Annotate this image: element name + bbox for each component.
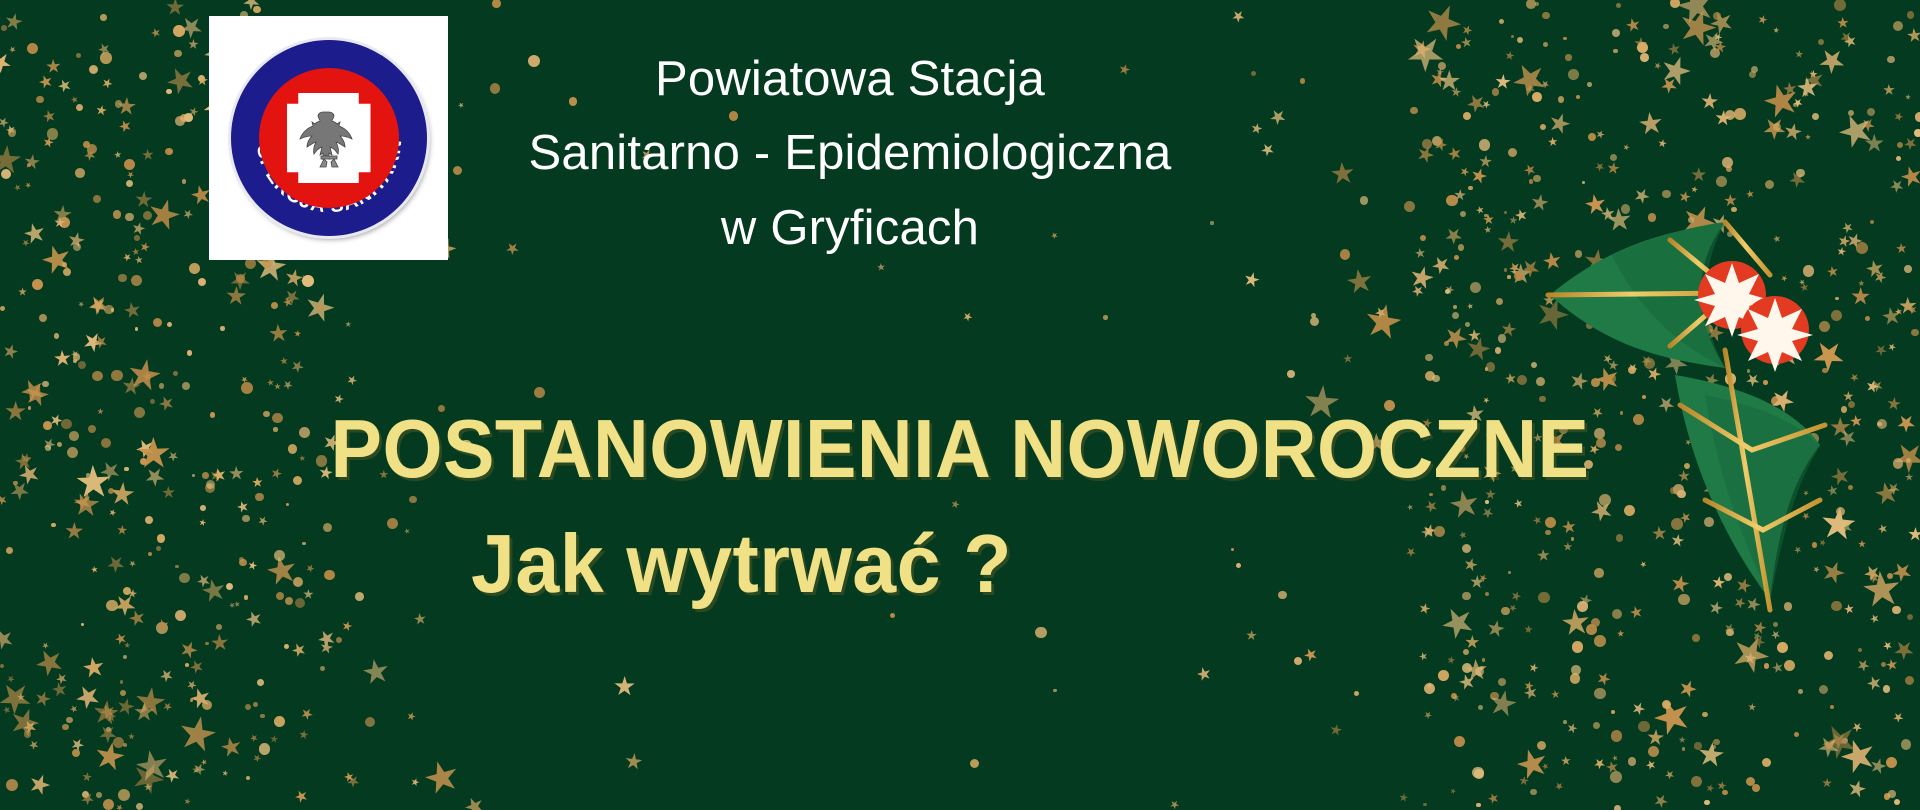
confetti-star: [624, 752, 643, 771]
confetti-star: [1834, 732, 1883, 781]
confetti-dot: [1496, 298, 1503, 305]
confetti-star: [70, 348, 81, 359]
confetti-dot: [1670, 0, 1680, 8]
confetti-star: [1836, 15, 1851, 30]
confetti-star: [26, 771, 53, 798]
confetti-star: [188, 39, 199, 50]
confetti-dot: [1504, 268, 1508, 272]
confetti-dot: [1794, 732, 1799, 737]
confetti-dot: [1410, 107, 1417, 114]
confetti-star: [5, 673, 16, 684]
confetti-dot: [1713, 739, 1720, 746]
confetti-dot: [1540, 124, 1547, 131]
confetti-dot: [0, 306, 5, 311]
confetti-dot: [1432, 375, 1440, 383]
confetti-star: [1, 705, 12, 716]
confetti-star: [1887, 176, 1907, 196]
confetti-dot: [1474, 769, 1484, 779]
confetti-dot: [1360, 196, 1368, 204]
confetti-star: [457, 100, 466, 109]
confetti-star: [36, 239, 77, 280]
confetti-star: [121, 252, 133, 264]
confetti-star: [1758, 112, 1790, 144]
confetti-dot: [6, 779, 18, 791]
confetti-star: [176, 713, 219, 756]
confetti-star: [1804, 133, 1812, 141]
confetti-dot: [1587, 82, 1592, 87]
confetti-dot: [216, 624, 222, 630]
confetti-dot: [24, 730, 32, 738]
confetti-star: [1624, 16, 1644, 36]
confetti-star: [13, 182, 23, 192]
confetti-star: [289, 357, 306, 374]
confetti-star: [1658, 74, 1681, 97]
confetti-star: [20, 717, 40, 737]
confetti-dot: [1103, 315, 1108, 320]
confetti-star: [270, 734, 279, 743]
confetti-star: [1436, 67, 1445, 76]
confetti-dot: [1611, 730, 1622, 741]
confetti-dot: [62, 262, 67, 267]
confetti-star: [319, 640, 334, 655]
confetti-star: [1410, 38, 1433, 61]
confetti-dot: [1638, 721, 1650, 733]
confetti-star: [1554, 780, 1566, 792]
confetti-star: [1462, 656, 1492, 686]
confetti-star: [226, 266, 254, 294]
confetti-dot: [1438, 62, 1446, 70]
confetti-dot: [73, 353, 80, 360]
confetti-star: [42, 136, 55, 149]
confetti-star: [153, 617, 171, 635]
confetti-star: [1868, 756, 1888, 776]
confetti-dot: [175, 610, 186, 621]
confetti-dot: [1508, 148, 1517, 157]
confetti-dot: [123, 655, 127, 659]
confetti-star: [1523, 680, 1535, 692]
confetti-star: [79, 653, 108, 682]
confetti-dot: [1287, 370, 1295, 378]
confetti-star: [40, 108, 58, 126]
confetti-star: [196, 74, 208, 86]
confetti-star: [1445, 144, 1464, 163]
confetti-dot: [1511, 35, 1514, 38]
confetti-star: [128, 733, 135, 740]
confetti-star: [121, 299, 144, 322]
confetti-star: [1675, 5, 1722, 52]
confetti-dot: [253, 702, 258, 707]
confetti-dot: [150, 399, 156, 405]
confetti-star: [358, 654, 393, 689]
confetti-star: [239, 374, 249, 384]
confetti-dot: [1614, 805, 1622, 810]
confetti-star: [30, 644, 69, 683]
confetti-dot: [1472, 767, 1483, 778]
confetti-star: [282, 295, 296, 309]
confetti-star: [1343, 264, 1377, 298]
confetti-star: [144, 195, 183, 234]
confetti-dot: [1465, 322, 1470, 327]
confetti-dot: [1710, 48, 1721, 59]
confetti-star: [4, 11, 25, 32]
confetti-star: [1414, 246, 1428, 260]
confetti-dot: [180, 114, 188, 122]
confetti-dot: [173, 25, 185, 37]
confetti-star: [1714, 110, 1732, 128]
confetti-star: [96, 721, 121, 746]
logo-blue-ring: PAŃSTWOWA INSPEKCJA SANITARNA: [231, 40, 427, 236]
confetti-dot: [1830, 705, 1834, 709]
confetti-dot: [1716, 176, 1727, 187]
confetti-dot: [1722, 157, 1733, 168]
confetti-dot: [198, 75, 205, 82]
confetti-star: [217, 733, 245, 761]
confetti-dot: [1773, 123, 1781, 131]
confetti-dot: [1848, 110, 1854, 116]
confetti-star: [1541, 761, 1550, 770]
confetti-dot: [198, 278, 206, 286]
confetti-dot: [1824, 651, 1833, 660]
confetti-star: [1450, 86, 1462, 98]
confetti-star: [140, 147, 156, 163]
confetti-star: [342, 770, 356, 784]
confetti-star: [1450, 693, 1461, 704]
confetti-star: [1745, 188, 1756, 199]
confetti-dot: [73, 243, 81, 251]
confetti-dot: [27, 163, 31, 167]
confetti-dot: [1035, 627, 1046, 638]
confetti-star: [1758, 77, 1806, 125]
confetti-star: [0, 675, 38, 720]
confetti-star: [302, 289, 339, 326]
confetti-star: [268, 259, 278, 269]
confetti-star: [289, 640, 309, 660]
confetti-dot: [1610, 154, 1617, 161]
confetti-star: [43, 57, 62, 76]
confetti-dot: [1452, 312, 1459, 319]
confetti-star: [1508, 215, 1518, 225]
confetti-star: [181, 207, 195, 221]
confetti-star: [1521, 684, 1540, 703]
confetti-star: [1670, 0, 1722, 32]
confetti-star: [1647, 691, 1698, 742]
confetti-dot: [103, 799, 114, 810]
confetti-star: [1511, 743, 1554, 786]
confetti-star: [96, 41, 113, 58]
confetti-dot: [120, 690, 126, 696]
confetti-star: [1846, 778, 1868, 800]
confetti-star: [1546, 110, 1573, 137]
confetti-star: [33, 689, 53, 709]
confetti-dot: [1492, 88, 1499, 95]
confetti-dot: [1451, 693, 1457, 699]
confetti-star: [314, 627, 339, 652]
confetti-star: [281, 286, 303, 308]
confetti-dot: [1340, 249, 1350, 259]
confetti-dot: [82, 791, 89, 798]
confetti-star: [461, 793, 488, 810]
confetti-dot: [202, 700, 212, 710]
confetti-dot: [534, 387, 545, 398]
confetti-star: [66, 230, 86, 250]
confetti-dot: [118, 789, 130, 801]
confetti-dot: [1765, 180, 1774, 189]
confetti-star: [1891, 710, 1906, 725]
confetti-star: [1705, 783, 1715, 793]
confetti-dot: [92, 371, 103, 382]
confetti-dot: [1404, 201, 1415, 212]
confetti-star: [1486, 688, 1518, 720]
confetti-star: [1658, 52, 1695, 89]
confetti-dot: [1582, 181, 1585, 184]
confetti-star: [131, 247, 141, 257]
confetti-star: [1837, 28, 1855, 46]
confetti-dot: [1468, 186, 1472, 190]
confetti-dot: [274, 716, 285, 727]
confetti-star: [1814, 731, 1844, 761]
confetti-dot: [1311, 313, 1316, 318]
confetti-star: [1453, 189, 1466, 202]
confetti-star: [1258, 140, 1277, 159]
confetti-dot: [76, 53, 81, 58]
confetti-dot: [1637, 42, 1648, 53]
poster-canvas: PAŃSTWOWA INSPEKCJA SANITARNA P: [0, 0, 1920, 810]
confetti-star: [1441, 224, 1465, 248]
title-line-1: POSTANOWIENIA NOWOROCZNE: [67, 405, 1853, 492]
confetti-dot: [1612, 29, 1620, 37]
confetti-dot: [1883, 685, 1890, 692]
confetti-dot: [185, 663, 189, 667]
confetti-star: [81, 771, 92, 782]
confetti-star: [115, 803, 125, 810]
confetti-dot: [1888, 790, 1895, 797]
confetti-dot: [1563, 720, 1567, 724]
confetti-star: [166, 146, 175, 155]
confetti-star: [1460, 35, 1475, 50]
confetti-star: [294, 330, 302, 338]
org-line-1: Powiatowa Stacja: [470, 42, 1230, 116]
confetti-star: [1865, 134, 1885, 154]
confetti-dot: [1702, 712, 1707, 717]
confetti-star: [143, 782, 153, 792]
confetti-star: [140, 369, 155, 384]
confetti-dot: [1594, 688, 1605, 699]
confetti-dot: [246, 776, 250, 780]
confetti-dot: [173, 371, 178, 376]
confetti-star: [125, 357, 163, 395]
confetti-star: [297, 272, 313, 288]
confetti-dot: [1905, 676, 1914, 685]
confetti-star: [6, 704, 43, 741]
confetti-dot: [1616, 3, 1621, 8]
confetti-star: [1795, 50, 1804, 59]
confetti-dot: [166, 89, 171, 94]
confetti-dot: [1484, 214, 1487, 217]
confetti-star: [1458, 165, 1470, 177]
confetti-dot: [1, 25, 7, 31]
confetti-star: [962, 310, 975, 323]
confetti-star: [1770, 660, 1786, 676]
polish-eagle-icon: [297, 106, 361, 176]
confetti-star: [279, 355, 290, 366]
confetti-dot: [1563, 37, 1566, 40]
confetti-star: [186, 684, 215, 713]
confetti-star: [1438, 70, 1461, 93]
confetti-star: [1409, 282, 1426, 299]
confetti-star: [1230, 7, 1248, 25]
confetti-star: [1713, 32, 1724, 43]
confetti-star: [200, 757, 209, 766]
confetti-dot: [1858, 648, 1862, 652]
confetti-dot: [1572, 641, 1583, 652]
confetti-dot: [1640, 53, 1649, 62]
confetti-dot: [1507, 275, 1511, 279]
confetti-dot: [83, 141, 89, 147]
confetti-star: [0, 115, 10, 129]
confetti-star: [1250, 122, 1264, 136]
confetti-star: [101, 76, 115, 90]
confetti-dot: [1438, 670, 1449, 681]
confetti-star: [68, 703, 79, 714]
confetti-dot: [1819, 685, 1828, 694]
confetti-dot: [1558, 96, 1564, 102]
confetti-dot: [1490, 692, 1499, 701]
confetti-dot: [62, 724, 68, 730]
confetti-dot: [970, 759, 979, 768]
confetti-star: [1679, 736, 1686, 743]
confetti-dot: [120, 680, 124, 684]
confetti-star: [130, 220, 146, 236]
confetti-dot: [100, 52, 111, 63]
confetti-star: [1826, 728, 1850, 752]
confetti-dot: [1568, 69, 1579, 80]
confetti-dot: [1682, 747, 1686, 751]
confetti-star: [1786, 168, 1810, 192]
confetti-star: [41, 641, 51, 651]
confetti-dot: [136, 803, 143, 810]
confetti-star: [185, 678, 198, 691]
confetti-star: [1245, 630, 1257, 642]
confetti-dot: [1294, 657, 1302, 665]
confetti-star: [55, 76, 74, 95]
organization-name: Powiatowa Stacja Sanitarno - Epidemiolog…: [470, 42, 1230, 265]
confetti-star: [7, 45, 17, 55]
confetti-star: [1809, 69, 1818, 78]
confetti-star: [1832, 107, 1880, 155]
confetti-star: [16, 692, 26, 702]
confetti-dot: [73, 359, 77, 363]
confetti-star: [1653, 61, 1663, 71]
confetti-star: [1606, 161, 1620, 175]
confetti-star: [1633, 37, 1647, 51]
confetti-dot: [187, 350, 192, 355]
confetti-dot: [1476, 803, 1481, 808]
confetti-dot: [259, 743, 270, 754]
confetti-dot: [1793, 103, 1797, 107]
confetti-star: [80, 328, 107, 355]
confetti-star: [1630, 699, 1647, 716]
confetti-star: [1676, 677, 1699, 700]
org-line-2: Sanitarno - Epidemiologiczna: [470, 116, 1230, 190]
logo-red-disc: [259, 68, 399, 208]
confetti-star: [1547, 135, 1560, 148]
confetti-dot: [1354, 691, 1359, 696]
confetti-dot: [1842, 738, 1848, 744]
confetti-star: [1400, 27, 1452, 79]
confetti-dot: [260, 714, 264, 718]
confetti-star: [121, 376, 142, 397]
confetti-dot: [1, 169, 11, 179]
confetti-dot: [93, 195, 101, 203]
confetti-star: [1884, 657, 1900, 673]
confetti-star: [1432, 136, 1449, 153]
confetti-dot: [245, 704, 251, 710]
confetti-dot: [1867, 108, 1875, 116]
confetti-dot: [1691, 776, 1702, 787]
confetti-dot: [1444, 341, 1449, 346]
confetti-dot: [159, 383, 165, 389]
confetti-star: [126, 757, 169, 800]
confetti-dot: [1762, 758, 1771, 767]
confetti-star: [1748, 703, 1757, 712]
confetti-star: [267, 321, 292, 346]
confetti-dot: [143, 211, 152, 220]
confetti-dot: [125, 213, 133, 221]
confetti-dot: [1423, 803, 1427, 807]
confetti-star: [266, 378, 276, 388]
confetti-dot: [271, 302, 278, 309]
confetti-star: [1757, 13, 1769, 25]
confetti-star: [1850, 720, 1864, 734]
confetti-dot: [1533, 93, 1541, 101]
confetti-star: [1696, 740, 1725, 769]
confetti-star: [1904, 94, 1911, 101]
confetti-dot: [320, 666, 325, 671]
confetti-star: [1663, 768, 1676, 781]
confetti-star: [1446, 655, 1456, 665]
confetti-dot: [1425, 371, 1435, 381]
confetti-dot: [1462, 663, 1472, 673]
confetti-dot: [1893, 21, 1903, 31]
confetti-dot: [1565, 54, 1571, 60]
confetti-star: [85, 291, 112, 318]
confetti-dot: [890, 613, 895, 618]
confetti-dot: [165, 148, 173, 156]
confetti-star: [16, 374, 50, 408]
confetti-dot: [1446, 195, 1458, 207]
confetti-star: [1717, 780, 1728, 791]
confetti-dot: [124, 159, 135, 170]
confetti-star: [281, 378, 294, 391]
confetti-star: [1362, 301, 1404, 343]
confetti-star: [116, 118, 133, 135]
confetti-dot: [253, 6, 261, 14]
confetti-dot: [1501, 607, 1510, 616]
confetti-dot: [1734, 108, 1746, 120]
confetti-dot: [1300, 78, 1305, 83]
confetti-dot: [1533, 175, 1541, 183]
confetti-star: [93, 740, 128, 775]
confetti-dot: [1588, 133, 1596, 141]
confetti-dot: [1576, 95, 1580, 99]
confetti-dot: [1530, 789, 1537, 796]
confetti-star: [52, 204, 72, 224]
confetti-star: [1644, 758, 1658, 772]
confetti-dot: [1692, 634, 1700, 642]
confetti-dot: [1613, 49, 1617, 53]
confetti-dot: [190, 699, 193, 702]
confetti-star: [117, 96, 137, 116]
